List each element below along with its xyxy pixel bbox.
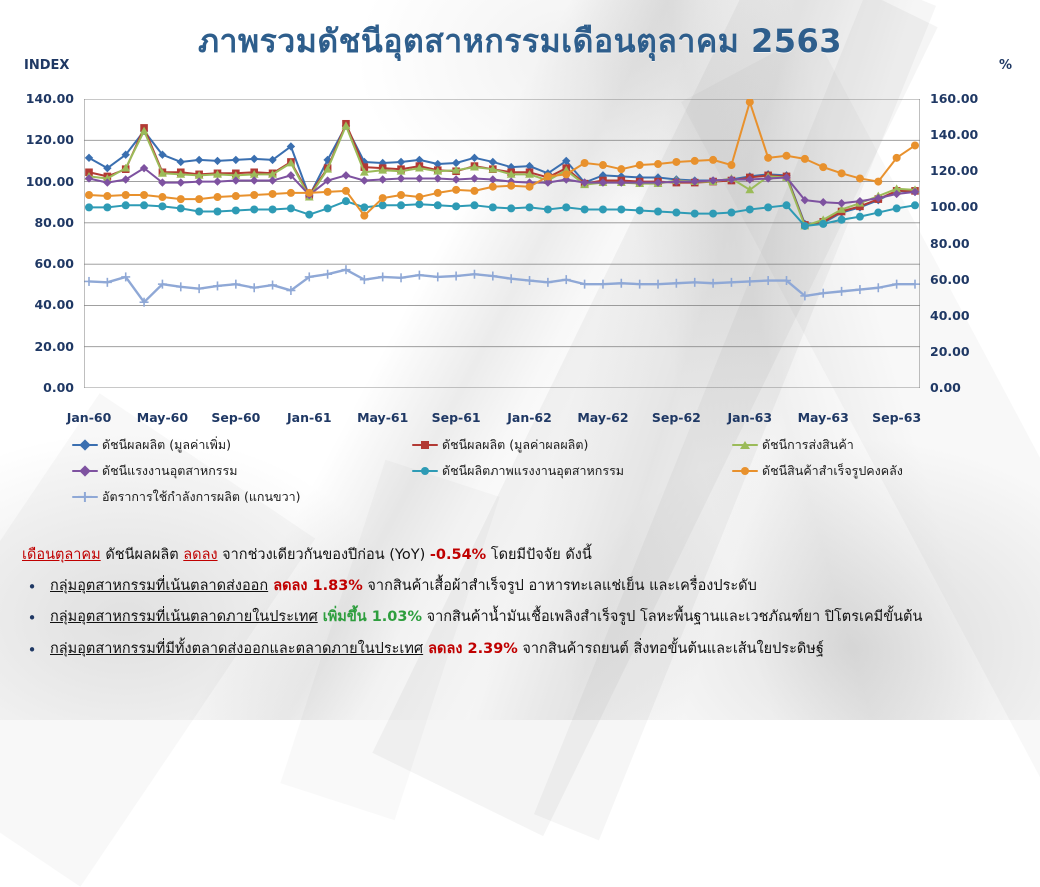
y-tick-left: 80.00: [34, 217, 74, 230]
y-axis-left: 0.0020.0040.0060.0080.00100.00120.00140.…: [8, 99, 74, 388]
bullet-reason: จากสินค้ารถยนต์ สิ่งทอขั้นต้นและเส้นใยปร…: [518, 641, 824, 657]
series-5: [85, 99, 919, 220]
bullet-value: 1.83%: [307, 578, 362, 594]
bullet-dot-icon: •: [22, 607, 42, 630]
headline-direction: ลดลง: [183, 547, 217, 563]
circle-marker-icon: [412, 465, 438, 477]
y-tick-left: 20.00: [34, 341, 74, 354]
headline-tail: โดยมีปัจจัย ดังนี้: [491, 547, 592, 563]
x-tick-label: May-62: [577, 410, 628, 425]
y-tick-right: 40.00: [930, 310, 970, 323]
bullet-reason: จากสินค้าน้ำมันเชื้อเพลิงสำเร็จรูป โลหะพ…: [422, 609, 922, 625]
legend-item[interactable]: ดัชนีผลผลิต (มูลค่าเพิ่ม): [72, 438, 231, 452]
y-tick-right: 80.00: [930, 238, 970, 251]
legend-item[interactable]: ดัชนีการส่งสินค้า: [732, 438, 854, 452]
bullet-item: •กลุ่มอุตสาหกรรมที่เน้นตลาดภายในประเทศ เ…: [22, 607, 1022, 630]
x-tick-label: Jan-63: [728, 410, 773, 425]
legend-item[interactable]: ดัชนีผลผลิต (มูลค่าผลผลิต): [412, 438, 588, 452]
bullet-group: กลุ่มอุตสาหกรรมที่มีทั้งตลาดส่งออกและตลา…: [50, 641, 423, 657]
legend-item[interactable]: ดัชนีแรงงานอุตสาหกรรม: [72, 464, 237, 478]
y-tick-left: 100.00: [26, 176, 74, 189]
x-tick-label: Sep-63: [872, 410, 921, 425]
y-tick-right: 140.00: [930, 129, 978, 142]
x-tick-label: Sep-60: [211, 410, 260, 425]
notes-block: เดือนตุลาคม ดัชนีผลผลิต ลดลง จากช่วงเดีย…: [22, 545, 1022, 670]
legend-item[interactable]: ดัชนีผลิตภาพแรงงานอุตสาหกรรม: [412, 464, 624, 478]
legend-item[interactable]: อัตราการใช้กำลังการผลิต (แกนขวา): [72, 490, 300, 504]
bullet-dot-icon: •: [22, 576, 42, 599]
x-axis: Jan-60May-60Sep-60Jan-61May-61Sep-61Jan-…: [84, 410, 920, 432]
bullet-group: กลุ่มอุตสาหกรรมที่เน้นตลาดส่งออก: [50, 578, 268, 594]
legend-item[interactable]: ดัชนีสินค้าสำเร็จรูปคงคลัง: [732, 464, 903, 478]
y-tick-right: 160.00: [930, 93, 978, 106]
x-tick-label: May-60: [137, 410, 188, 425]
y-tick-right: 120.00: [930, 165, 978, 178]
bullet-reason: จากสินค้าเสื้อผ้าสำเร็จรูป อาหารทะเลแช่เ…: [363, 578, 757, 594]
headline-value: -0.54%: [430, 547, 486, 563]
bullet-group: กลุ่มอุตสาหกรรมที่เน้นตลาดภายในประเทศ: [50, 609, 318, 625]
x-tick-label: Jan-61: [287, 410, 332, 425]
legend-label: ดัชนีแรงงานอุตสาหกรรม: [102, 464, 237, 478]
x-tick-label: Sep-61: [432, 410, 481, 425]
page-title: ภาพรวมดัชนีอุตสาหกรรมเดือนตุลาคม 2563: [0, 16, 1040, 67]
legend-label: ดัชนีสินค้าสำเร็จรูปคงคลัง: [762, 464, 903, 478]
diamond-marker-icon: [72, 439, 98, 451]
bullet-value: 2.39%: [462, 641, 517, 657]
circle-marker-icon: [732, 465, 758, 477]
y-tick-right: 0.00: [930, 382, 961, 395]
bullet-direction: เพิ่มขึ้น: [318, 609, 367, 625]
headline-subject: ดัชนีผลผลิต: [105, 547, 178, 563]
legend-label: ดัชนีผลผลิต (มูลค่าเพิ่ม): [102, 438, 231, 452]
bullet-text: กลุ่มอุตสาหกรรมที่เน้นตลาดภายในประเทศ เพ…: [50, 607, 922, 630]
y-axis-right: 0.0020.0040.0060.0080.00100.00120.00140.…: [930, 99, 1010, 388]
bullet-dot-icon: •: [22, 639, 42, 662]
y-tick-left: 40.00: [34, 299, 74, 312]
diamond-marker-icon: [72, 465, 98, 477]
bullet-direction: ลดลง: [268, 578, 307, 594]
y-tick-right: 100.00: [930, 201, 978, 214]
y-tick-right: 20.00: [930, 346, 970, 359]
bullet-direction: ลดลง: [423, 641, 462, 657]
series-6: [85, 265, 920, 307]
legend-label: อัตราการใช้กำลังการผลิต (แกนขวา): [102, 490, 300, 504]
square-marker-icon: [412, 439, 438, 451]
y-tick-left: 120.00: [26, 134, 74, 147]
bullet-value: 1.03%: [367, 609, 422, 625]
notes-bullet-list: •กลุ่มอุตสาหกรรมที่เน้นตลาดส่งออก ลดลง 1…: [22, 576, 1022, 662]
legend-label: ดัชนีผลผลิต (มูลค่าผลผลิต): [442, 438, 588, 452]
x-tick-label: May-61: [357, 410, 408, 425]
y-tick-right: 60.00: [930, 274, 970, 287]
gridlines: [84, 99, 920, 388]
right-axis-caption: %: [999, 58, 1012, 73]
chart-legend: ดัชนีผลผลิต (มูลค่าเพิ่ม)ดัชนีผลผลิต (มู…: [72, 438, 972, 508]
y-tick-left: 0.00: [43, 382, 74, 395]
y-tick-left: 60.00: [34, 258, 74, 271]
bullet-text: กลุ่มอุตสาหกรรมที่มีทั้งตลาดส่งออกและตลา…: [50, 639, 824, 662]
series-4: [85, 197, 919, 230]
left-axis-caption: INDEX: [24, 58, 69, 73]
chart-plot-area: [84, 99, 920, 388]
headline-month: เดือนตุลาคม: [22, 547, 101, 563]
legend-label: ดัชนีการส่งสินค้า: [762, 438, 854, 452]
line-chart-svg: [84, 99, 920, 388]
headline-compare: จากช่วงเดียวกันของปีก่อน (YoY): [222, 547, 425, 563]
triangle-marker-icon: [732, 439, 758, 451]
x-tick-label: Jan-62: [507, 410, 552, 425]
bullet-text: กลุ่มอุตสาหกรรมที่เน้นตลาดส่งออก ลดลง 1.…: [50, 576, 757, 599]
bullet-item: •กลุ่มอุตสาหกรรมที่มีทั้งตลาดส่งออกและตล…: [22, 639, 1022, 662]
notes-headline: เดือนตุลาคม ดัชนีผลผลิต ลดลง จากช่วงเดีย…: [22, 545, 1022, 567]
legend-label: ดัชนีผลิตภาพแรงงานอุตสาหกรรม: [442, 464, 624, 478]
bullet-item: •กลุ่มอุตสาหกรรมที่เน้นตลาดส่งออก ลดลง 1…: [22, 576, 1022, 599]
x-tick-label: Jan-60: [67, 410, 112, 425]
plus-marker-icon: [72, 491, 98, 503]
x-tick-label: May-63: [798, 410, 849, 425]
y-tick-left: 140.00: [26, 93, 74, 106]
x-tick-label: Sep-62: [652, 410, 701, 425]
